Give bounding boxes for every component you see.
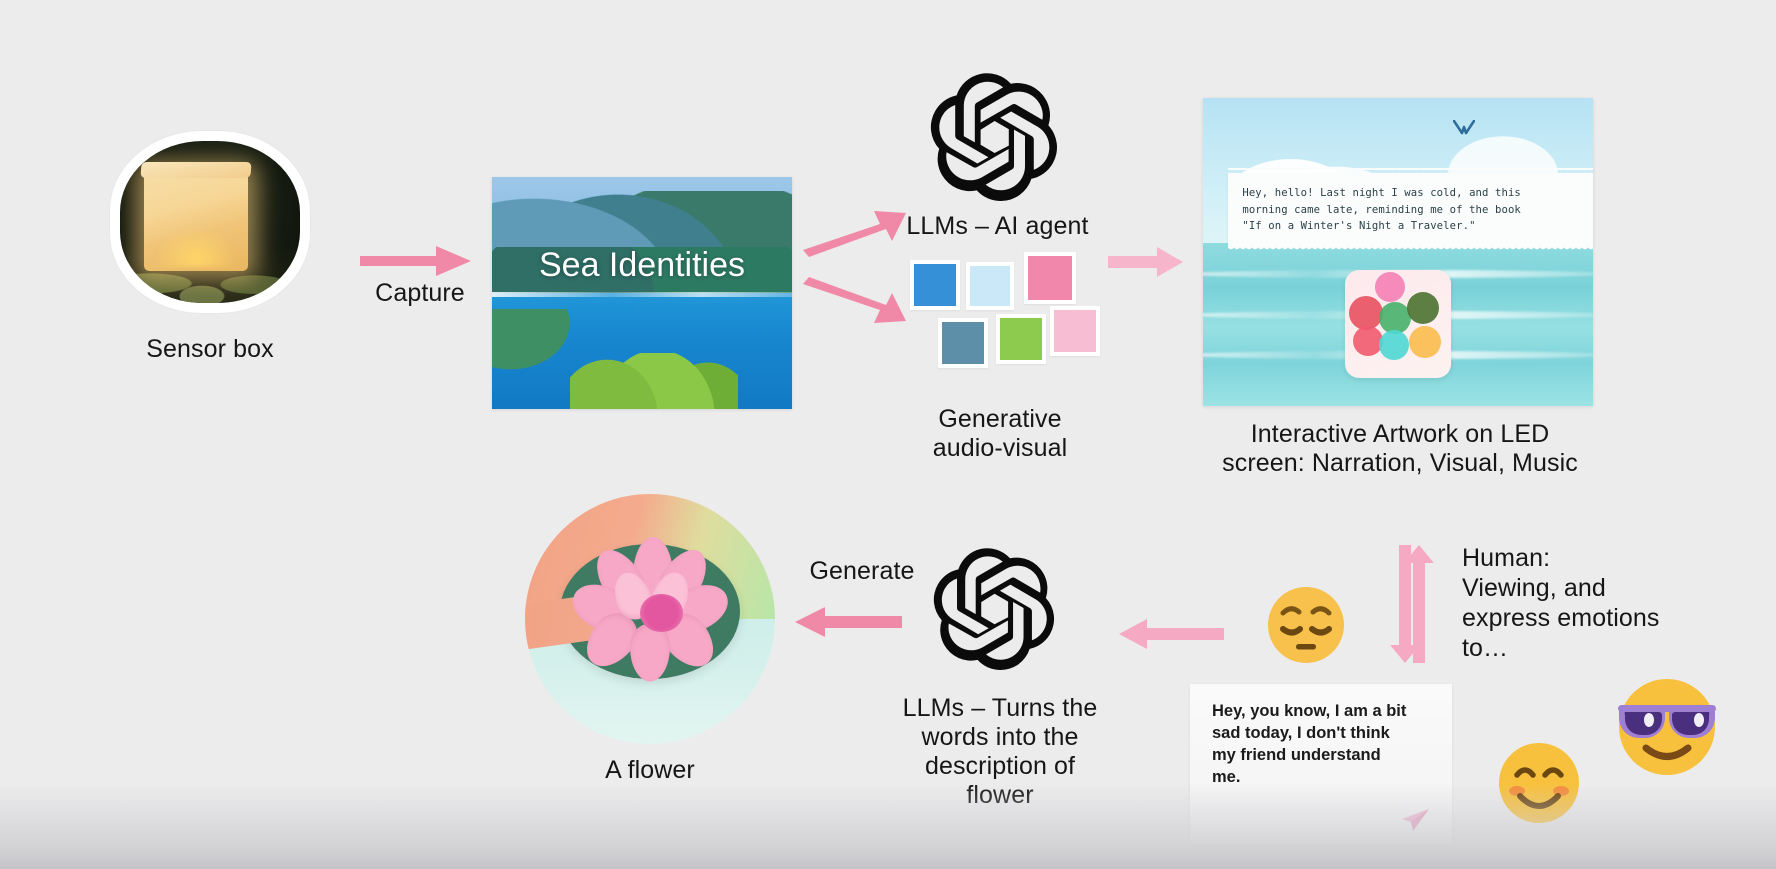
dot-red [1349, 296, 1383, 330]
sensor-box-caption: Sensor box [60, 335, 360, 364]
generative-audio-visual-caption: Generative audio-visual [870, 405, 1130, 463]
led-artwork-caption: Interactive Artwork on LED screen: Narra… [1170, 420, 1630, 478]
dot-olive [1407, 292, 1439, 324]
arrow-down-right-icon [800, 274, 908, 335]
dot-cyan [1379, 330, 1409, 360]
swatch-slate-blue [938, 318, 988, 368]
bird-icon [1453, 120, 1475, 136]
arrow-right-icon [1107, 245, 1185, 284]
openai-logo-icon [930, 73, 1058, 201]
up-down-arrows-icon [1385, 527, 1439, 663]
diagram-canvas: Sensor box Capture Sea Identities LLMs –… [0, 0, 1776, 869]
paper-plane-send-icon[interactable] [1400, 808, 1430, 832]
flower-center [640, 594, 683, 632]
shoreline-foam [492, 292, 792, 297]
led-screen-artwork-icon: Hey, hello! Last night I was cold, and t… [1203, 98, 1593, 406]
dot-yellow [1409, 326, 1441, 358]
smiling-face-emoji [1494, 738, 1584, 828]
foreground-cape [492, 309, 582, 379]
narration-note: Hey, hello! Last night I was cold, and t… [1228, 173, 1593, 245]
pensive-face-emoji [1263, 582, 1349, 668]
human-interaction-caption: Human: Viewing, and express emotions to… [1462, 543, 1692, 663]
arrow-left-icon [1117, 617, 1225, 656]
chat-message-bubble[interactable]: Hey, you know, I am a bit sad today, I d… [1190, 684, 1452, 844]
lotus-flower-artwork-icon [525, 494, 775, 744]
swatch-blue [910, 260, 960, 310]
sensor-box-photo-icon [110, 131, 310, 313]
chat-message-text: Hey, you know, I am a bit sad today, I d… [1212, 700, 1430, 788]
foreground-trees [570, 353, 738, 409]
color-swatch-grid-icon [910, 260, 1080, 372]
sensor-box-image-inner [120, 141, 300, 303]
sea-landscape-video-icon: Sea Identities [492, 177, 792, 409]
glowing-box [144, 171, 248, 271]
arrow-left-icon [793, 605, 903, 644]
openai-logo-icon [933, 548, 1055, 670]
video-title: Sea Identities [492, 245, 792, 286]
sunglasses-face-emoji [1612, 672, 1722, 782]
arrow-right-icon [358, 243, 474, 284]
llm-turns-words-caption: LLMs – Turns the words into the descript… [875, 694, 1125, 810]
box-lid [140, 162, 251, 178]
swatch-green [996, 314, 1046, 364]
swatch-light-pink [1050, 306, 1100, 356]
dot-pink [1375, 272, 1405, 302]
visual-card [1345, 270, 1450, 378]
capture-label: Capture [350, 279, 490, 308]
flower-caption: A flower [500, 756, 800, 785]
box-glow [154, 227, 238, 267]
swatch-pale-blue [966, 262, 1014, 310]
llm-agent-caption: LLMs – AI agent [880, 212, 1115, 241]
swatch-pink [1024, 252, 1076, 304]
generate-label: Generate [782, 557, 942, 586]
